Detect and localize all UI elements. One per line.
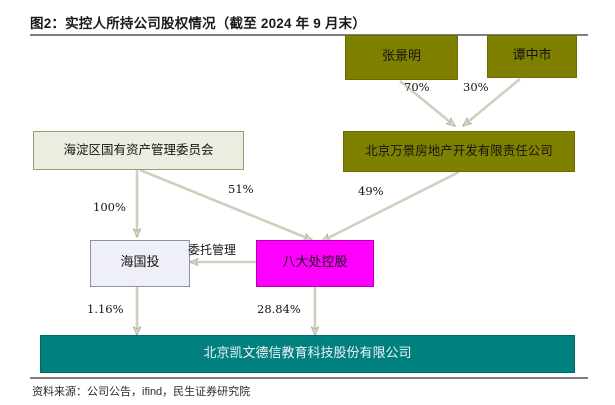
edge-label-49-percent: 49% — [358, 184, 384, 198]
node-tan-zhongshi[interactable]: 谭中市 — [487, 35, 577, 78]
figure-title: 图2：实控人所持公司股权情况（截至 2024 年 9 月末） — [30, 12, 590, 32]
ownership-structure-figure: 图2：实控人所持公司股权情况（截至 2024 年 9 月末） — [0, 0, 615, 405]
node-label: 海国投 — [120, 256, 159, 271]
edge-label-30-percent: 30% — [463, 80, 489, 94]
edge-label-100-percent: 100% — [93, 200, 126, 214]
edge-label-28-84-percent: 28.84% — [257, 302, 301, 316]
node-label: 北京凯文德信教育科技股份有限公司 — [203, 347, 411, 362]
node-wanjing-realestate[interactable]: 北京万景房地产开发有限责任公司 — [343, 131, 575, 172]
source-divider — [30, 377, 588, 379]
node-label: 张景明 — [382, 50, 421, 65]
node-label: 北京万景房地产开发有限责任公司 — [365, 144, 553, 158]
node-label: 谭中市 — [512, 49, 551, 64]
node-listed-company[interactable]: 北京凯文德信教育科技股份有限公司 — [40, 335, 575, 373]
edge-wanjing-to-badachu — [322, 172, 459, 241]
edge-label-entrusted-management: 委托管理 — [188, 241, 236, 258]
node-zhang-jingming[interactable]: 张景明 — [345, 35, 458, 80]
edge-sasac-to-badachu — [140, 170, 312, 240]
edge-label-51-percent: 51% — [228, 182, 254, 196]
source-note: 资料来源：公司公告，ifind，民生证券研究院 — [32, 383, 250, 399]
node-haiguotou[interactable]: 海国投 — [90, 240, 190, 287]
node-haidian-sasac[interactable]: 海淀区国有资产管理委员会 — [33, 131, 244, 170]
node-label: 八大处控股 — [282, 256, 347, 271]
edge-label-70-percent: 70% — [404, 80, 430, 94]
edge-label-1-16-percent: 1.16% — [87, 302, 124, 316]
node-label: 海淀区国有资产管理委员会 — [63, 143, 213, 157]
node-badachu-holding[interactable]: 八大处控股 — [256, 240, 374, 287]
